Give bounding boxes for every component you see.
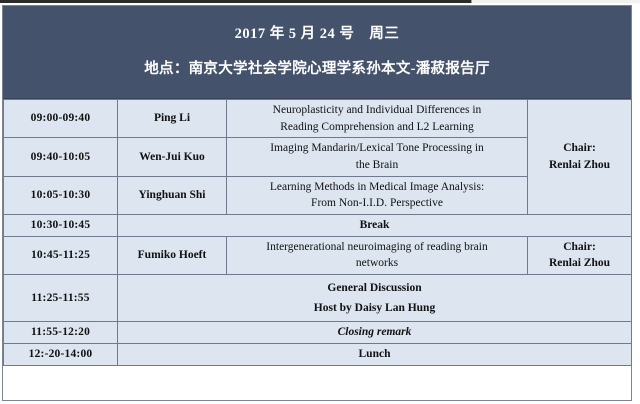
session-chair-line-1: Chair: <box>532 239 627 256</box>
session-chair-line-1: Chair: <box>532 140 627 157</box>
session-title-line-1: Imaging Mandarin/Lexical Tone Processing… <box>231 140 523 157</box>
session-time: 11:25-11:55 <box>4 275 118 322</box>
schedule-banner: 2017 年 5 月 24 号 周三 地点：南京大学社会学院心理学系孙本文-潘菽… <box>3 6 631 99</box>
schedule-page: 2017 年 5 月 24 号 周三 地点：南京大学社会学院心理学系孙本文-潘菽… <box>0 0 640 404</box>
schedule-sheet: 2017 年 5 月 24 号 周三 地点：南京大学社会学院心理学系孙本文-潘菽… <box>2 5 632 401</box>
session-chair: Chair: Renlai Zhou <box>528 100 632 215</box>
session-chair-line-2: Renlai Zhou <box>532 157 627 174</box>
session-title-line-2: networks <box>231 255 523 272</box>
session-speaker: Yinghuan Shi <box>118 176 227 214</box>
session-speaker: Ping Li <box>118 100 227 138</box>
session-chair: Chair: Renlai Zhou <box>528 236 632 274</box>
session-label-discussion: General Discussion Host by Daisy Lan Hun… <box>118 275 632 322</box>
table-row: 10:45-11:25 Fumiko Hoeft Intergeneration… <box>4 236 632 274</box>
session-label-line-1: General Discussion <box>122 278 627 298</box>
session-time: 09:00-09:40 <box>4 100 118 138</box>
session-title-line-1: Intergenerational neuroimaging of readin… <box>231 239 523 256</box>
session-title-line-2: the Brain <box>231 157 523 174</box>
session-title-line-2: Reading Comprehension and L2 Learning <box>231 119 523 136</box>
session-label-closing: Closing remark <box>118 322 632 344</box>
session-title-line-1: Learning Methods in Medical Image Analys… <box>231 179 523 196</box>
session-title-line-1: Neuroplasticity and Individual Differenc… <box>231 102 523 119</box>
session-label-break: Break <box>118 215 632 237</box>
table-row-break: 10:30-10:45 Break <box>4 215 632 237</box>
session-time: 10:30-10:45 <box>4 215 118 237</box>
table-row-discussion: 11:25-11:55 General Discussion Host by D… <box>4 275 632 322</box>
session-title-line-2: From Non-I.I.D. Perspective <box>231 195 523 212</box>
session-title: Intergenerational neuroimaging of readin… <box>227 236 528 274</box>
schedule-table: 09:00-09:40 Ping Li Neuroplasticity and … <box>3 99 632 366</box>
session-label-lunch: Lunch <box>118 343 632 365</box>
session-title: Neuroplasticity and Individual Differenc… <box>227 100 528 138</box>
banner-date-title: 2017 年 5 月 24 号 周三 <box>235 26 400 43</box>
session-title: Imaging Mandarin/Lexical Tone Processing… <box>227 138 528 176</box>
session-label-line-2: Host by Daisy Lan Hung <box>122 298 627 318</box>
window-edge-dark-segment <box>0 0 471 3</box>
table-row-lunch: 12:-20-14:00 Lunch <box>4 343 632 365</box>
table-row-closing: 11:55-12:20 Closing remark <box>4 322 632 344</box>
banner-location: 地点：南京大学社会学院心理学系孙本文-潘菽报告厅 <box>144 61 490 78</box>
session-speaker: Wen-Jui Kuo <box>118 138 227 176</box>
window-edge-light-segment <box>471 0 640 3</box>
session-chair-line-2: Renlai Zhou <box>532 255 627 272</box>
session-time: 11:55-12:20 <box>4 322 118 344</box>
session-speaker: Fumiko Hoeft <box>118 236 227 274</box>
table-row: 09:00-09:40 Ping Li Neuroplasticity and … <box>4 100 632 138</box>
session-time: 10:05-10:30 <box>4 176 118 214</box>
session-time: 12:-20-14:00 <box>4 343 118 365</box>
session-title: Learning Methods in Medical Image Analys… <box>227 176 528 214</box>
session-time: 09:40-10:05 <box>4 138 118 176</box>
session-time: 10:45-11:25 <box>4 236 118 274</box>
